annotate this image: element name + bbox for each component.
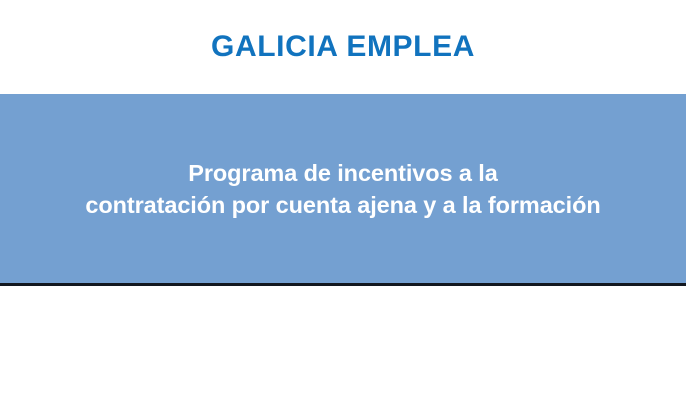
program-banner-line-2: contratación por cuenta ajena y a la for…: [13, 189, 673, 221]
program-banner-text: Programa de incentivos a la contratación…: [13, 157, 673, 221]
page-title: GALICIA EMPLEA: [211, 30, 475, 64]
footer-logo-bar: XUNTA DE GALICIA CONSELLERÍA DE PROMOCIÓ…: [0, 286, 686, 410]
program-banner-line-1: Programa de incentivos a la: [13, 157, 673, 189]
slide-page: GALICIA EMPLEA Programa de incentivos a …: [0, 0, 686, 410]
title-area: GALICIA EMPLEA: [0, 0, 686, 94]
program-banner: Programa de incentivos a la contratación…: [0, 94, 686, 283]
